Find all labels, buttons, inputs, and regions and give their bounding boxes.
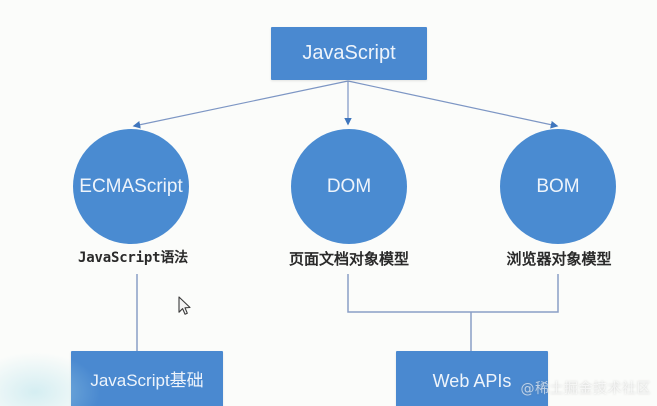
- node-web-apis-label: Web APIs: [433, 371, 512, 392]
- node-javascript-basics[interactable]: JavaScript基础: [71, 351, 223, 406]
- node-javascript-basics-label: JavaScript基础: [90, 371, 203, 391]
- diagram-canvas: JavaScript ECMAScript DOM BOM JavaScript…: [0, 0, 657, 406]
- node-dom-label: DOM: [327, 176, 371, 198]
- caption-bom: 浏览器对象模型: [497, 248, 621, 269]
- node-ecmascript-label: ECMAScript: [79, 176, 182, 198]
- edge-dom-bom-to-web-apis: [348, 274, 558, 312]
- edge-javascript-to-bom: [348, 81, 557, 126]
- node-javascript[interactable]: JavaScript: [271, 27, 427, 80]
- edge-javascript-to-ecmascript: [134, 81, 348, 126]
- node-ecmascript[interactable]: ECMAScript: [73, 129, 189, 244]
- caption-dom: 页面文档对象模型: [278, 248, 420, 269]
- node-bom-label: BOM: [536, 176, 579, 198]
- node-bom[interactable]: BOM: [500, 129, 616, 244]
- caption-ecmascript: JavaScript语法: [63, 247, 203, 267]
- node-web-apis[interactable]: Web APIs: [396, 351, 548, 406]
- node-dom[interactable]: DOM: [291, 129, 407, 244]
- node-javascript-label: JavaScript: [302, 42, 395, 65]
